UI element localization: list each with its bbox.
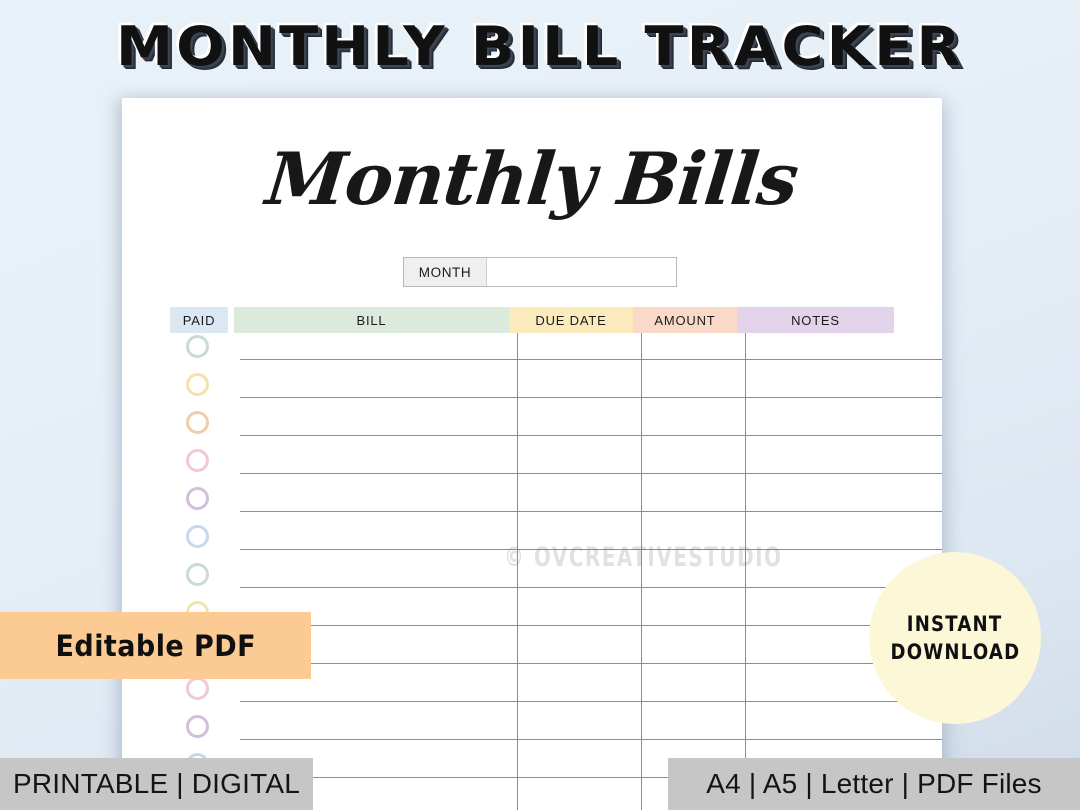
month-field[interactable]: MONTH — [403, 257, 677, 287]
table-row[interactable] — [240, 359, 942, 360]
instant-download-line-2: DOWNLOAD — [890, 638, 1020, 666]
paid-checkbox-circle[interactable] — [186, 715, 209, 738]
paid-checkbox-circle[interactable] — [186, 411, 209, 434]
table-row[interactable] — [240, 587, 942, 588]
bill-table: PAID BILL DUE DATE AMOUNT NOTES — [170, 307, 942, 810]
column-header-amount: AMOUNT — [633, 307, 737, 333]
table-row[interactable] — [240, 739, 942, 740]
column-header-bill: BILL — [234, 307, 509, 333]
instant-download-line-1: INSTANT — [907, 610, 1003, 638]
paid-checkbox-circle[interactable] — [186, 373, 209, 396]
title-bar: MONTHLY BILL TRACKER — [0, 0, 1080, 92]
month-label: MONTH — [404, 258, 487, 286]
column-header-notes: NOTES — [737, 307, 894, 333]
paid-checkbox-circle[interactable] — [186, 335, 209, 358]
editable-pdf-label: Editable PDF — [55, 629, 255, 663]
table-row[interactable] — [240, 625, 942, 626]
instant-download-badge: INSTANT DOWNLOAD — [869, 552, 1041, 724]
paid-checkbox-circle[interactable] — [186, 449, 209, 472]
printable-sheet: Monthly Bills MONTH PAID BILL DUE DATE A… — [122, 98, 942, 810]
paid-checkbox-circle[interactable] — [186, 525, 209, 548]
table-row[interactable] — [240, 473, 942, 474]
listing-image: MONTHLY BILL TRACKER Monthly Bills MONTH… — [0, 0, 1080, 810]
table-row[interactable] — [240, 511, 942, 512]
editable-pdf-banner: Editable PDF — [0, 612, 311, 679]
column-header-paid: PAID — [170, 307, 228, 333]
sheet-heading: Monthly Bills — [122, 136, 942, 221]
column-header-due-date: DUE DATE — [509, 307, 633, 333]
table-grid — [170, 333, 942, 810]
page-title: MONTHLY BILL TRACKER — [116, 15, 964, 78]
printable-digital-label: PRINTABLE | DIGITAL — [13, 768, 300, 800]
month-input[interactable] — [487, 258, 676, 286]
table-row[interactable] — [240, 663, 942, 664]
table-row[interactable] — [240, 397, 942, 398]
paid-checkbox-circle[interactable] — [186, 487, 209, 510]
table-header-row: PAID BILL DUE DATE AMOUNT NOTES — [170, 307, 942, 333]
table-row[interactable] — [240, 701, 942, 702]
table-row[interactable] — [240, 549, 942, 550]
paid-checkbox-circle[interactable] — [186, 677, 209, 700]
table-row[interactable] — [240, 435, 942, 436]
formats-banner: A4 | A5 | Letter | PDF Files — [668, 758, 1080, 810]
printable-digital-banner: PRINTABLE | DIGITAL — [0, 758, 313, 810]
formats-label: A4 | A5 | Letter | PDF Files — [706, 768, 1042, 800]
paid-checkbox-circle[interactable] — [186, 563, 209, 586]
